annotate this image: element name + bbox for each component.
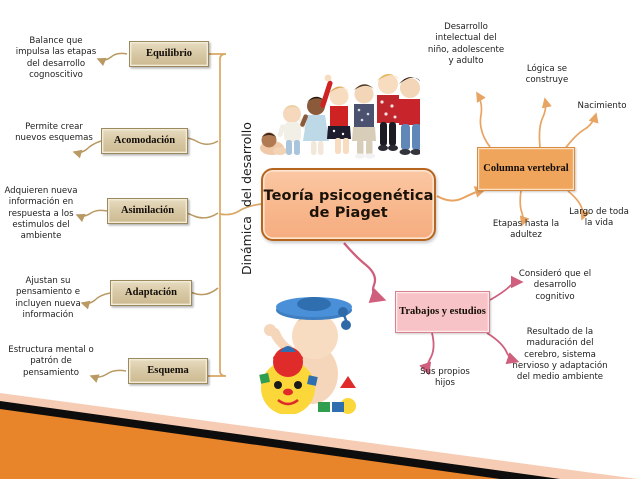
caption-largo-de-toda-la-vida: Largo de toda la vida — [566, 207, 632, 230]
footer-orange-triangle — [0, 409, 500, 479]
caption-etapas-hasta-la-adultez: Etapas hasta la adultez — [489, 219, 563, 242]
caption-nacimiento: Nacimiento — [569, 101, 635, 112]
caption-logica-se-construye: Lógica se construye — [516, 64, 578, 87]
node-acomodacion[interactable]: Acomodación — [101, 128, 188, 154]
node-asimilacion[interactable]: Asimilación — [107, 198, 188, 224]
node-columna-vertebral[interactable]: Columna vertebral — [477, 147, 575, 191]
caption-asimilacion: Adquieren nueva información en respuesta… — [0, 186, 82, 243]
caption-esquema: Estructura mental o patrón de pensamient… — [8, 345, 94, 379]
spine-label-dinamica: Dinámica — [239, 216, 254, 275]
node-trabajos-y-estudios[interactable]: Trabajos y estudios — [395, 291, 490, 333]
mind-map-canvas: Dinámica del desarrollo Teoría psicogené… — [0, 0, 638, 479]
node-esquema[interactable]: Esquema — [128, 358, 208, 384]
caption-acomodacion: Permite crear nuevos esquemas — [14, 122, 94, 145]
baby-graduation-photo — [240, 278, 380, 414]
caption-adaptacion: Ajustan su pensamiento e incluyen nueva … — [8, 276, 88, 321]
caption-desarrollo-intelectual: Desarrollo intelectual del niño, adolesc… — [424, 22, 508, 67]
node-adaptacion[interactable]: Adaptación — [110, 280, 192, 306]
caption-resultado-maduracion: Resultado de la maduración del cerebro, … — [512, 327, 608, 384]
central-node-teoria-psicogenetica[interactable]: Teoría psicogenética de Piaget — [261, 168, 436, 241]
caption-sus-propios-hijos: Sus propios hijos — [415, 367, 475, 390]
node-equilibrio[interactable]: Equilibrio — [129, 41, 209, 67]
caption-considero-desarrollo-cognitivo: Consideró que el desarrollo cognitivo — [516, 269, 594, 303]
caption-equilibrio: Balance que impulsa las etapas del desar… — [14, 36, 98, 81]
children-photo — [258, 48, 420, 160]
spine-label-del-desarrollo: del desarrollo — [239, 122, 254, 207]
